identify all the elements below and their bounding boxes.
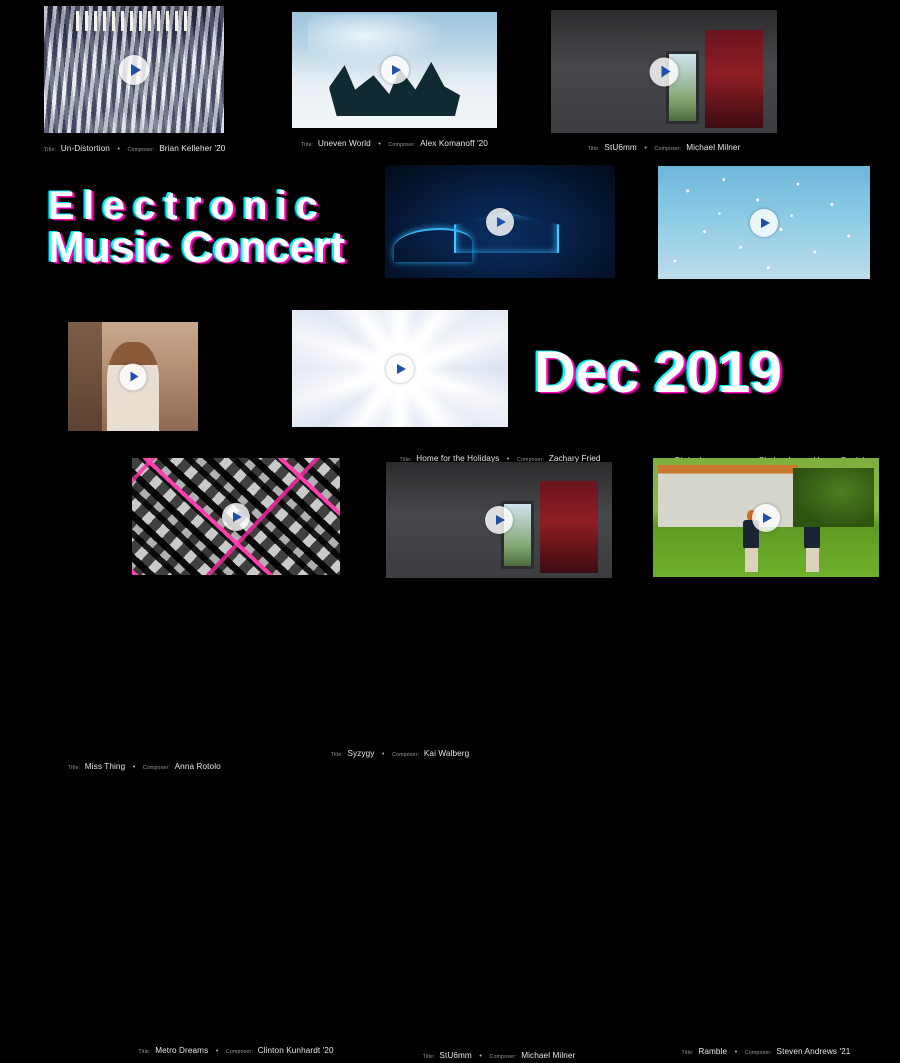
play-button[interactable]	[750, 209, 778, 237]
caption-title-value: Ramble	[698, 1047, 727, 1056]
caption-composer-label: Composer:	[392, 752, 419, 758]
play-triangle-icon	[763, 513, 772, 523]
caption-separator: •	[641, 145, 650, 152]
caption-title-label: Title:	[588, 146, 600, 152]
caption-title-value: Uneven World	[318, 139, 371, 148]
play-triangle-icon	[233, 512, 242, 522]
video-thumbnail[interactable]	[292, 12, 497, 128]
video-caption: Title: Ramble • Composer: Steven Andrews…	[653, 1041, 879, 1059]
caption-title-label: Title:	[423, 1054, 435, 1060]
caption-separator: •	[114, 146, 123, 153]
video-card-syzygy[interactable]: Title: Syzygy • Composer: Kai Walberg	[292, 310, 508, 427]
video-thumbnail[interactable]	[132, 458, 340, 575]
poster-title-line-2: Music Concert	[48, 226, 345, 271]
video-thumbnail[interactable]	[44, 6, 224, 133]
video-thumbnail[interactable]	[551, 10, 777, 133]
caption-separator: •	[379, 751, 388, 758]
poster-canvas: Title: Un-Distortion • Composer: Brian K…	[0, 0, 900, 600]
video-card-home-for-the-holidays[interactable]: Title: Home for the Holidays • Composer:…	[385, 165, 615, 278]
caption-title-label: Title:	[331, 752, 343, 758]
caption-title-value: Miss Thing	[85, 762, 125, 771]
figure-legs	[745, 548, 758, 573]
play-triangle-icon	[392, 65, 401, 75]
poster-title-line-1: Electronic	[48, 186, 326, 227]
play-triangle-icon	[661, 66, 670, 78]
play-triangle-icon	[131, 372, 139, 382]
caption-title-value: Syzygy	[348, 749, 375, 758]
play-button[interactable]	[485, 506, 513, 534]
video-thumbnail[interactable]	[68, 322, 198, 431]
caption-composer-value: Kai Walberg	[424, 749, 469, 758]
play-button[interactable]	[486, 208, 514, 236]
figure-legs	[806, 548, 819, 573]
video-card-metro-dreams[interactable]: Title: Metro Dreams • Composer: Clinton …	[132, 458, 340, 575]
caption-separator: •	[130, 764, 139, 771]
caption-title-label: Title:	[682, 1050, 694, 1056]
caption-composer-label: Composer:	[745, 1050, 772, 1056]
video-card-un-distortion[interactable]: Title: Un-Distortion • Composer: Brian K…	[44, 6, 224, 133]
video-thumbnail[interactable]	[658, 166, 870, 279]
play-button[interactable]	[381, 56, 409, 84]
figure-right	[804, 510, 820, 572]
caption-title-value: Metro Dreams	[155, 1046, 208, 1055]
play-triangle-icon	[497, 217, 506, 227]
video-caption: Title: StU6mm • Composer: Michael Milner	[386, 1045, 612, 1063]
video-caption: Title: Syzygy • Composer: Kai Walberg	[292, 743, 508, 761]
video-card-stu6mm-bottom[interactable]: Title: StU6mm • Composer: Michael Milner	[386, 462, 612, 578]
play-triangle-icon	[496, 515, 505, 525]
play-button[interactable]	[752, 504, 780, 532]
figure-torso	[804, 520, 820, 548]
caption-composer-value: Steven Andrews '21	[777, 1047, 851, 1056]
caption-composer-label: Composer:	[655, 146, 682, 152]
caption-composer-value: Brian Kelleher '20	[159, 144, 225, 153]
figure-head	[808, 510, 817, 521]
video-caption: Title: Uneven World • Composer: Alex Kom…	[292, 133, 497, 151]
caption-composer-label: Composer:	[143, 765, 170, 771]
play-button[interactable]	[650, 57, 679, 86]
video-caption: Title: StU6mm • Composer: Michael Milner	[551, 137, 777, 155]
caption-title-label: Title:	[68, 765, 80, 771]
video-thumbnail[interactable]	[386, 462, 612, 578]
caption-composer-value: Clinton Kunhardt '20	[258, 1046, 334, 1055]
caption-separator: •	[213, 1048, 222, 1055]
video-caption: Title: Miss Thing • Composer: Anna Rotol…	[68, 756, 198, 774]
play-triangle-icon	[131, 64, 141, 76]
caption-composer-value: Anna Rotolo	[175, 762, 221, 771]
video-caption: Title: Un-Distortion • Composer: Brian K…	[44, 138, 224, 156]
play-button[interactable]	[386, 355, 414, 383]
caption-title-value: Un-Distortion	[61, 144, 110, 153]
caption-composer-value: Michael Milner	[686, 143, 740, 152]
play-button[interactable]	[119, 55, 149, 85]
video-thumbnail[interactable]	[653, 458, 879, 577]
caption-composer-label: Composer:	[226, 1049, 253, 1055]
caption-title-label: Title:	[301, 142, 313, 148]
video-card-disorder[interactable]: Title: Dis/order • Composer: Chukwubueze…	[658, 166, 870, 279]
caption-composer-label: Composer:	[388, 142, 415, 148]
video-thumbnail[interactable]	[385, 165, 615, 278]
poster-date: Dec 2019	[534, 343, 782, 402]
caption-title-value: StU6mm	[439, 1051, 471, 1060]
caption-separator: •	[476, 1053, 485, 1060]
video-card-miss-thing[interactable]: Title: Miss Thing • Composer: Anna Rotol…	[68, 322, 198, 431]
video-card-ramble[interactable]: Title: Ramble • Composer: Steven Andrews…	[653, 458, 879, 577]
caption-composer-label: Composer:	[490, 1054, 517, 1060]
caption-composer-label: Composer:	[128, 147, 155, 153]
play-button[interactable]	[120, 363, 147, 390]
caption-title-value: StU6mm	[604, 143, 636, 152]
caption-composer-value: Alex Komanoff '20	[420, 139, 488, 148]
play-button[interactable]	[222, 503, 250, 531]
caption-title-label: Title:	[138, 1049, 150, 1055]
caption-separator: •	[732, 1049, 741, 1056]
caption-separator: •	[375, 141, 384, 148]
caption-title-label: Title:	[44, 147, 56, 153]
video-caption: Title: Metro Dreams • Composer: Clinton …	[132, 1040, 340, 1058]
play-triangle-icon	[761, 218, 770, 228]
play-triangle-icon	[397, 364, 406, 374]
caption-composer-value: Michael Milner	[521, 1051, 575, 1060]
video-card-stu6mm-top[interactable]: Title: StU6mm • Composer: Michael Milner	[551, 10, 777, 133]
video-card-uneven-world[interactable]: Title: Uneven World • Composer: Alex Kom…	[292, 12, 497, 128]
video-thumbnail[interactable]	[292, 310, 508, 427]
